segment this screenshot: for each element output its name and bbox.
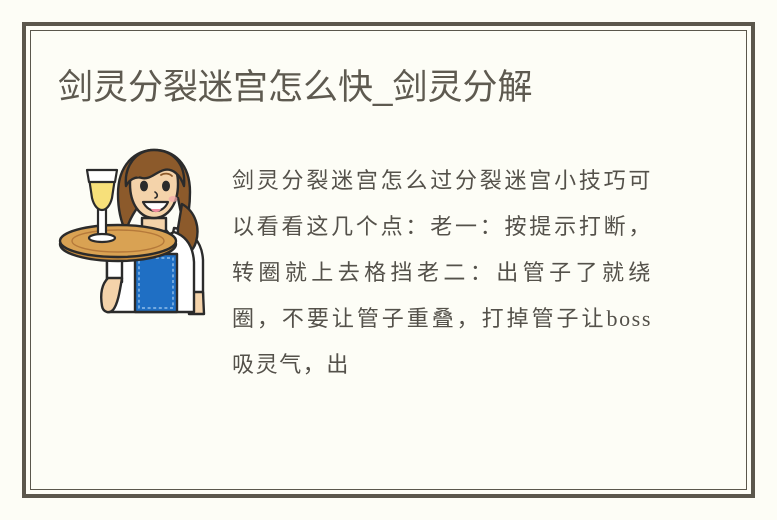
article-body-text: 剑灵分裂迷宫怎么过分裂迷宫小技巧可以看看这几个点：老一：按提示打断，转圈就上去格… <box>232 158 652 388</box>
apron-body <box>135 254 177 312</box>
waitress-illustration <box>56 142 221 317</box>
article-card-page: 剑灵分裂迷宫怎么快_剑灵分解 <box>0 0 777 520</box>
glass-base <box>89 234 115 242</box>
card-content: 剑灵分裂迷宫怎么快_剑灵分解 <box>30 30 747 490</box>
page-title: 剑灵分裂迷宫怎么快_剑灵分解 <box>58 68 718 108</box>
right-cheek-blush <box>169 196 178 202</box>
waitress-with-tray-icon <box>56 142 221 317</box>
left-eye <box>140 181 148 192</box>
glass-bowl-top <box>87 170 117 182</box>
serving-tray <box>60 225 176 261</box>
right-eye <box>162 181 170 192</box>
